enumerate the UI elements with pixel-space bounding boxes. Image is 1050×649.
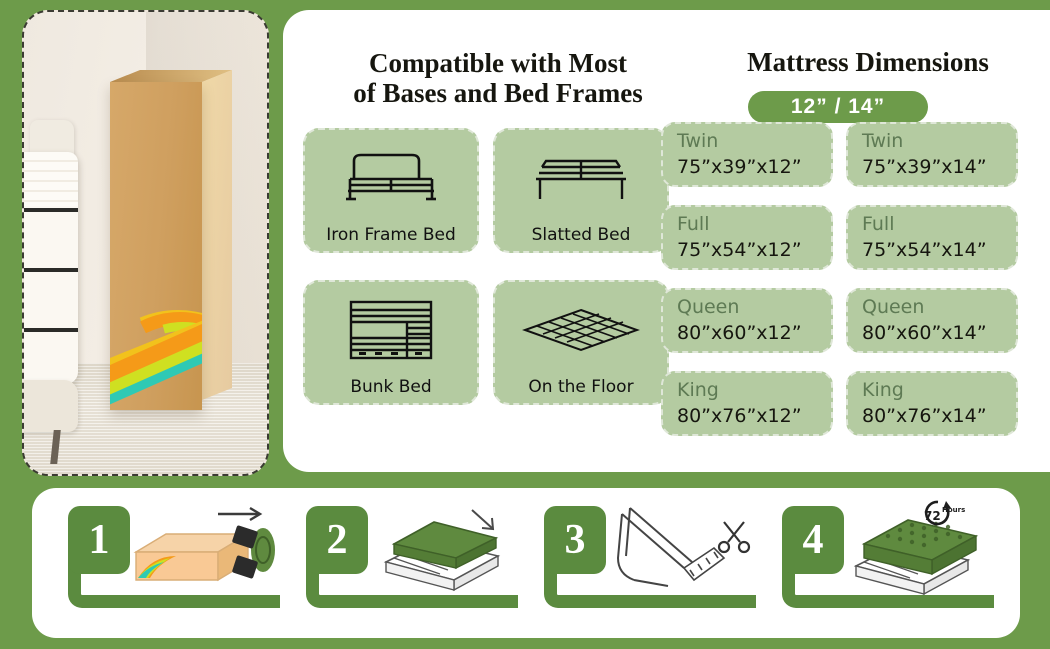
dimension-card[interactable]: Full 75”x54”x12”: [661, 205, 833, 270]
step-number-badge: 1: [68, 506, 130, 574]
info-panel: Compatible with Most of Bases and Bed Fr…: [283, 10, 1050, 472]
dimension-size: King: [862, 378, 1016, 404]
box-front-face: [110, 82, 202, 410]
dimension-measurement: 75”x54”x14”: [862, 238, 1016, 264]
cardboard-box: [110, 70, 240, 410]
dimension-measurement: 80”x60”x14”: [862, 321, 1016, 347]
dimension-size: King: [677, 378, 831, 404]
step-number-badge: 4: [782, 506, 844, 574]
bed-card-label: Slatted Bed: [532, 225, 631, 245]
bunk-bed-icon: [305, 282, 477, 377]
dimensions-title: Mattress Dimensions: [703, 47, 1033, 77]
svg-text:72: 72: [924, 509, 941, 523]
bed-base: [24, 380, 78, 432]
compatibility-title-line2: of Bases and Bed Frames: [303, 78, 693, 108]
bed-card-label: On the Floor: [528, 377, 633, 397]
dimension-measurement: 80”x76”x14”: [862, 404, 1016, 430]
box-swoosh-graphic: [110, 290, 202, 410]
cut-plastic-wrap-scissors-icon: [606, 500, 776, 592]
product-photo-panel: [22, 10, 269, 476]
dimension-measurement: 75”x54”x12”: [677, 238, 831, 264]
dimension-size: Queen: [677, 295, 831, 321]
dimension-card[interactable]: King 80”x76”x14”: [846, 371, 1018, 436]
mattress-band: [24, 328, 78, 332]
compatibility-title: Compatible with Most of Bases and Bed Fr…: [303, 48, 693, 108]
bed-card-iron-frame[interactable]: Iron Frame Bed: [303, 128, 479, 253]
dimension-size: Full: [862, 212, 1016, 238]
setup-steps-panel: 1: [32, 488, 1020, 638]
box-with-rolled-mattress-icon: [130, 500, 300, 592]
iron-frame-bed-icon: [305, 130, 477, 225]
dimension-size: Full: [677, 212, 831, 238]
bed-card-bunk[interactable]: Bunk Bed: [303, 280, 479, 405]
dimension-measurement: 75”x39”x12”: [677, 155, 831, 181]
infographic-canvas: Compatible with Most of Bases and Bed Fr…: [0, 0, 1050, 649]
dimension-card[interactable]: Queen 80”x60”x12”: [661, 288, 833, 353]
dimension-measurement: 80”x76”x12”: [677, 404, 831, 430]
dimension-card[interactable]: Twin 75”x39”x12”: [661, 122, 833, 187]
dimension-card[interactable]: King 80”x76”x12”: [661, 371, 833, 436]
dimension-measurement: 75”x39”x14”: [862, 155, 1016, 181]
dimension-card[interactable]: Full 75”x54”x14”: [846, 205, 1018, 270]
dimension-card[interactable]: Queen 80”x60”x14”: [846, 288, 1018, 353]
svg-text:Hours: Hours: [942, 506, 965, 514]
mattress-band: [24, 208, 78, 212]
mattress-stack: [24, 152, 78, 384]
unroll-mattress-onto-base-icon: [368, 500, 538, 592]
step-1: 1: [68, 506, 300, 618]
compatibility-title-line1: Compatible with Most: [303, 48, 693, 78]
dimension-card[interactable]: Twin 75”x39”x14”: [846, 122, 1018, 187]
72-hours-badge: 72 Hours: [918, 498, 962, 530]
step-number-badge: 2: [306, 506, 368, 574]
step-2: 2: [306, 506, 538, 618]
slatted-bed-icon: [495, 130, 667, 225]
photo-inner: [24, 12, 267, 474]
bed-card-label: Iron Frame Bed: [326, 225, 456, 245]
dimension-size: Twin: [862, 129, 1016, 155]
step-4: 4: [782, 506, 1014, 618]
bed-card-slatted[interactable]: Slatted Bed: [493, 128, 669, 253]
on-the-floor-icon: [495, 282, 667, 377]
mattress-band: [24, 268, 78, 272]
step-3: 3: [544, 506, 776, 618]
step-number-badge: 3: [544, 506, 606, 574]
bed-card-label: Bunk Bed: [350, 377, 431, 397]
dimension-size: Twin: [677, 129, 831, 155]
mattress-quilt-top: [24, 152, 78, 206]
dimension-size: Queen: [862, 295, 1016, 321]
box-side-face: [202, 70, 232, 400]
thickness-pill: 12” / 14”: [748, 91, 928, 123]
bed-card-on-the-floor[interactable]: On the Floor: [493, 280, 669, 405]
dimension-measurement: 80”x60”x12”: [677, 321, 831, 347]
